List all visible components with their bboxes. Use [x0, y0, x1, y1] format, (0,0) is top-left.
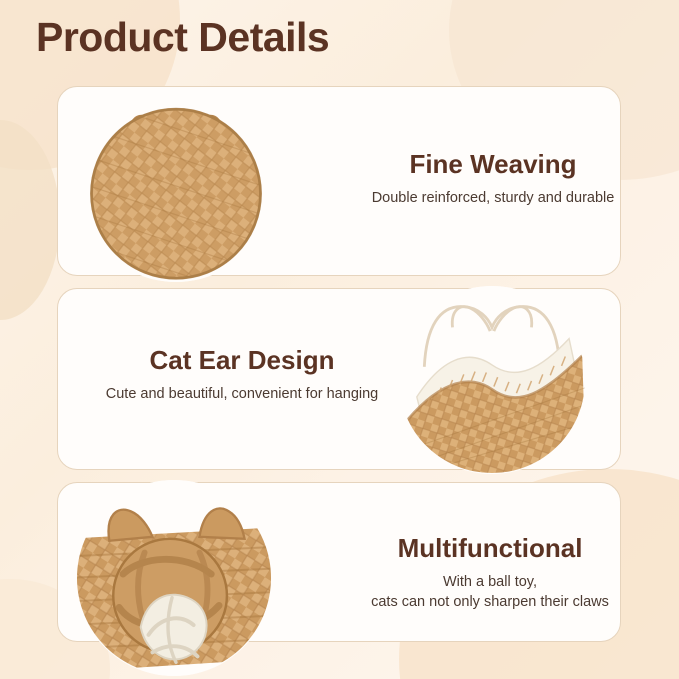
- feature-description: Cute and beautiful, convenient for hangi…: [72, 385, 412, 405]
- product-image-mat-with-ball-toy: [76, 480, 272, 676]
- background-blob-left: [0, 120, 60, 320]
- feature-text-block: Cat Ear Design Cute and beautiful, conve…: [72, 345, 412, 405]
- feature-heading: Cat Ear Design: [72, 345, 412, 376]
- product-image-woven-mat-front: [80, 90, 272, 282]
- feature-text-block: Fine Weaving Double reinforced, sturdy a…: [348, 149, 638, 209]
- feature-text-block: Multifunctional With a ball toy, cats ca…: [342, 533, 638, 612]
- feature-description: Double reinforced, sturdy and durable: [348, 189, 638, 209]
- product-details-page: Product Details Fine Weaving Double rein…: [0, 0, 679, 679]
- feature-heading: Fine Weaving: [348, 149, 638, 180]
- page-title: Product Details: [36, 14, 329, 61]
- product-image-cat-ear-closeup: [398, 286, 586, 474]
- feature-heading: Multifunctional: [342, 533, 638, 564]
- feature-description: With a ball toy, cats can not only sharp…: [342, 573, 638, 612]
